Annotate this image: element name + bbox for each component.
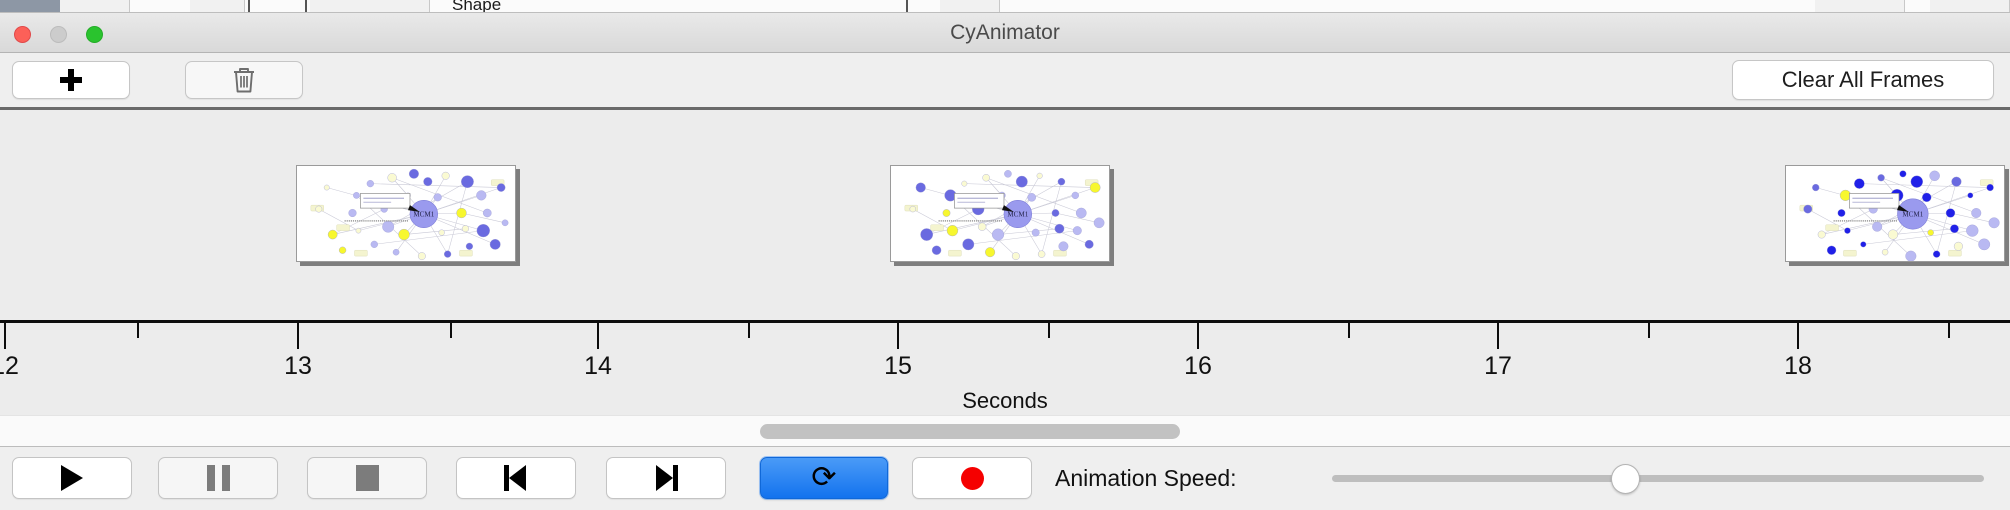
trash-icon [231, 66, 257, 94]
ruler-tick [1497, 323, 1499, 349]
record-icon [961, 467, 984, 490]
background-window-panel [940, 0, 1000, 13]
frame-thumbnail[interactable]: MCM1 [296, 165, 516, 262]
ruler-tick-label: 18 [1784, 352, 1812, 381]
loop-icon: ⟳ [811, 463, 836, 493]
ruler-tick [748, 323, 750, 338]
background-window-divider [305, 0, 307, 13]
ruler-tick-label: 12 [0, 352, 19, 381]
background-window-panel [60, 0, 130, 13]
record-button[interactable] [912, 457, 1032, 499]
pause-button[interactable] [158, 457, 278, 499]
svg-text:MCM1: MCM1 [1902, 211, 1923, 219]
toolbar: Clear All Frames [0, 53, 2010, 107]
background-window-sidebar [0, 0, 60, 13]
svg-text:MCM1: MCM1 [1007, 211, 1028, 219]
background-window-divider [248, 0, 250, 13]
ruler-tick-label: 14 [584, 352, 612, 381]
skip-backward-icon [504, 465, 528, 491]
animation-speed-slider[interactable] [1332, 457, 1984, 499]
background-window-panel [1815, 0, 1905, 13]
background-window-panel [190, 0, 245, 13]
slider-track[interactable] [1332, 475, 1984, 482]
skip-forward-icon [654, 465, 678, 491]
background-window-divider [906, 0, 908, 13]
ruler-tick [137, 323, 139, 338]
ruler-baseline [0, 320, 2010, 323]
play-icon [61, 465, 83, 491]
ruler-tick [1048, 323, 1050, 338]
ruler-tick [597, 323, 599, 349]
frame-thumbnail[interactable]: MCM1 [890, 165, 1110, 262]
scrollbar-thumb[interactable] [760, 424, 1180, 439]
frame-thumbnail[interactable]: MCM1 [1785, 165, 2005, 262]
window-titlebar: CyAnimator [0, 13, 2010, 53]
skip-to-start-button[interactable] [456, 457, 576, 499]
background-window-panel [310, 0, 430, 13]
timeline-horizontal-scrollbar[interactable] [0, 415, 2010, 447]
pause-icon [207, 465, 230, 491]
ruler-tick [1948, 323, 1950, 338]
ruler-tick-label: 16 [1184, 352, 1212, 381]
svg-text:MCM1: MCM1 [413, 211, 434, 219]
stop-icon [356, 465, 379, 491]
slider-thumb[interactable] [1611, 464, 1640, 494]
ruler-tick [1648, 323, 1650, 338]
play-button[interactable] [12, 457, 132, 499]
stop-button[interactable] [307, 457, 427, 499]
add-frame-button[interactable] [12, 61, 130, 99]
frames-strip: MCM1MCM1MCM1 [0, 110, 2010, 320]
background-window-label: Shape [452, 0, 501, 13]
animation-speed-label: Animation Speed: [1055, 457, 1237, 499]
ruler-tick [297, 323, 299, 349]
background-window-strip: Shape [0, 0, 2010, 13]
timeline-ruler[interactable]: 12131415161718 Seconds [0, 320, 2010, 415]
skip-to-end-button[interactable] [606, 457, 726, 499]
ruler-tick [1797, 323, 1799, 349]
window-title: CyAnimator [0, 13, 2010, 53]
playback-controls: ⟳ Animation Speed: [0, 447, 2010, 510]
ruler-tick [1348, 323, 1350, 338]
clear-all-frames-button[interactable]: Clear All Frames [1732, 60, 1994, 100]
plus-icon [60, 69, 82, 91]
ruler-tick-label: 17 [1484, 352, 1512, 381]
ruler-tick [4, 323, 6, 349]
ruler-tick [1197, 323, 1199, 349]
ruler-tick-label: 15 [884, 352, 912, 381]
ruler-tick [897, 323, 899, 349]
timeline-panel[interactable]: MCM1MCM1MCM1 12131415161718 Seconds [0, 110, 2010, 415]
cyanimator-window: CyAnimator Clear All Frames MCM1MCM1MCM1… [0, 13, 2010, 510]
ruler-tick-label: 13 [284, 352, 312, 381]
ruler-tick [450, 323, 452, 338]
loop-button[interactable]: ⟳ [760, 457, 888, 499]
delete-frame-button[interactable] [185, 61, 303, 99]
ruler-axis-title: Seconds [0, 388, 2010, 414]
background-window-panel [1930, 0, 2010, 13]
